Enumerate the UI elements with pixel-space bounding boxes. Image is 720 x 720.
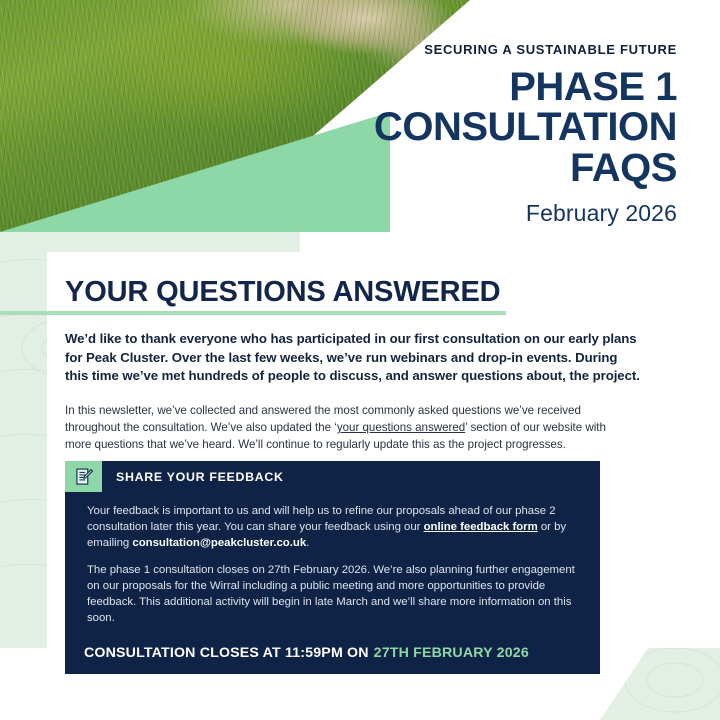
feedback-paragraph-2: The phase 1 consultation closes on 27th …: [87, 562, 582, 627]
document-header: SECURING A SUSTAINABLE FUTURE PHASE 1 CO…: [177, 42, 677, 227]
document-pen-icon: [65, 461, 102, 492]
header-eyebrow: SECURING A SUSTAINABLE FUTURE: [177, 42, 677, 58]
consultation-email[interactable]: consultation@peakcluster.co.uk: [132, 537, 306, 549]
page-title-line-2: CONSULTATION: [177, 107, 677, 148]
section-heading: YOUR QUESTIONS ANSWERED: [65, 276, 500, 309]
consultation-closes-text: CONSULTATION CLOSES AT 11:59PM ON: [84, 645, 369, 661]
page-title-line-3: FAQs: [177, 148, 677, 189]
document-pen-icon-glyph: [74, 467, 94, 487]
page-title: PHASE 1 CONSULTATION FAQs: [177, 67, 677, 189]
page-title-line-1: PHASE 1: [177, 67, 677, 108]
newsletter-page: SECURING A SUSTAINABLE FUTURE PHASE 1 CO…: [0, 0, 720, 720]
share-feedback-box: SHARE YOUR FEEDBACK Your feedback is imp…: [65, 461, 600, 639]
publication-date: February 2026: [177, 200, 677, 227]
lead-paragraph: We’d like to thank everyone who has part…: [65, 330, 640, 386]
intro-paragraph: In this newsletter, we’ve collected and …: [65, 402, 610, 453]
your-questions-answered-link[interactable]: your questions answered: [337, 421, 465, 434]
consultation-closes-banner: CONSULTATION CLOSES AT 11:59PM ON 27TH F…: [65, 632, 600, 674]
share-feedback-title: SHARE YOUR FEEDBACK: [102, 461, 284, 492]
feedback-paragraph-1: Your feedback is important to us and wil…: [87, 503, 582, 552]
share-feedback-body: Your feedback is important to us and wil…: [65, 492, 600, 639]
online-feedback-form-link[interactable]: online feedback form: [424, 521, 538, 533]
share-feedback-header: SHARE YOUR FEEDBACK: [65, 461, 600, 492]
heading-divider: [0, 311, 506, 315]
consultation-closes-date: 27TH FEBRUARY 2026: [374, 645, 529, 661]
feedback-p1-text-3: .: [306, 537, 309, 549]
